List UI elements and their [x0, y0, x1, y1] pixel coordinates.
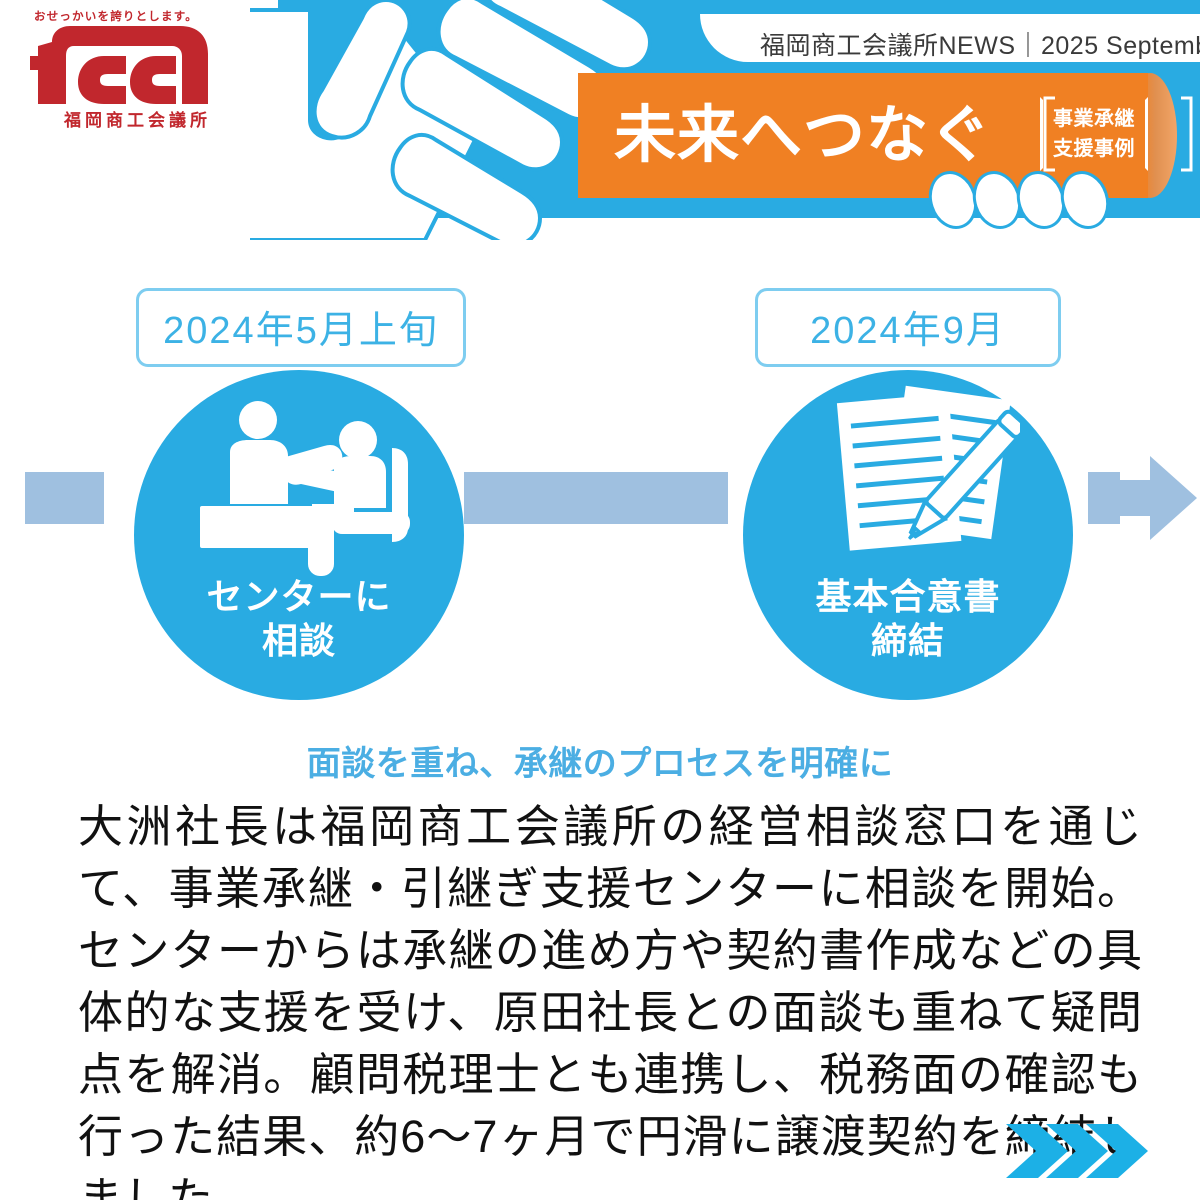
timeline-node-2-label: 基本合意書 締結	[743, 575, 1073, 663]
timeline-node-2-date: 2024年9月	[755, 288, 1061, 367]
fcci-logo: おせっかいを誇りとします。 福岡商工会議所	[22, 8, 222, 138]
documents-pen-icon	[820, 382, 1020, 582]
timeline-node-2: 2024年9月	[735, 360, 1085, 700]
logo-tagline: おせっかいを誇りとします。	[34, 8, 198, 24]
header-news-line: 福岡商工会議所NEWS｜2025 September	[760, 26, 1200, 62]
consultation-desk-icon	[186, 400, 418, 580]
timeline-node-1-label: センターに 相談	[134, 575, 464, 663]
banner-tag: 事業承継 支援事例	[1040, 97, 1148, 171]
logo-mark-icon	[30, 26, 216, 104]
timeline-node-1-date: 2024年5月上旬	[136, 288, 466, 367]
right-arrow-icon	[1098, 450, 1198, 546]
logo-subtitle: 福岡商工会議所	[64, 106, 211, 131]
fingertips-icon	[925, 170, 1125, 230]
timeline-node-2-label-line2: 締結	[743, 619, 1073, 663]
timeline-node-1-label-line1: センターに	[134, 575, 464, 619]
news-card: 福岡商工会議所NEWS｜2025 September おせっかいを誇りとします。…	[0, 0, 1200, 1200]
timeline-node-1-label-line2: 相談	[134, 619, 464, 663]
banner-title: 未来へつなぐ	[614, 91, 992, 181]
article-subheading: 面談を重ね、承継のプロセスを明確に	[0, 736, 1200, 785]
timeline-node-2-label-line1: 基本合意書	[743, 575, 1073, 619]
triple-chevron-right-icon	[1000, 1120, 1180, 1182]
article-body: 大洲社長は福岡商工会議所の経営相談窓口を通じて、事業承継・引継ぎ支援センターに相…	[78, 796, 1142, 1200]
timeline-node-1: 2024年5月上旬	[118, 360, 500, 700]
